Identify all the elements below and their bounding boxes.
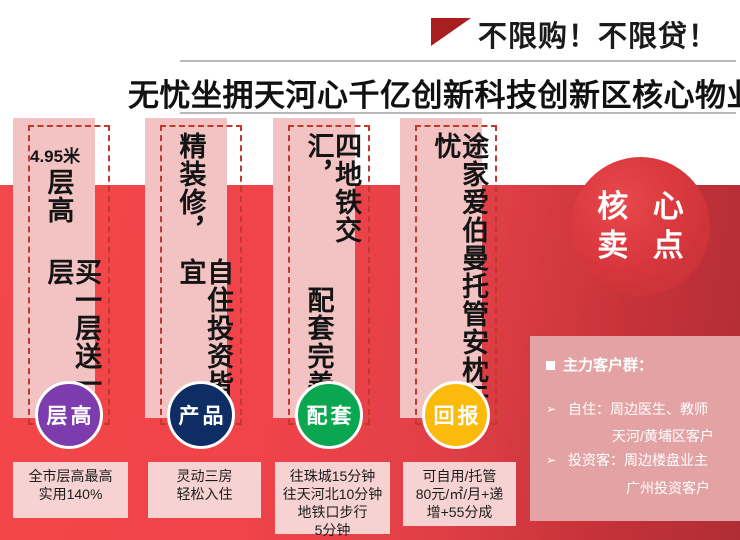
customer-row: 自住：周边医生、教师 <box>568 399 708 419</box>
badge-circle-3[interactable]: 配套 <box>295 381 363 449</box>
red-triangle-icon <box>431 18 471 46</box>
column-vertical-text-primary: 四地铁交汇， <box>304 132 359 274</box>
slide-root: 不限购！不限贷！ 无忧坐拥天河心千亿创新科技创新区核心物业 4.95米 层高 买… <box>0 0 740 540</box>
customer-row: 天河/黄埔区客户 <box>612 426 714 446</box>
customer-group-panel: 主力客户群： ➢ 自住：周边医生、教师 天河/黄埔区客户 ➢ 投资客：周边楼盘业… <box>530 336 740 521</box>
caption-line: 地铁口步行 <box>277 504 388 522</box>
square-bullet-icon <box>546 361 555 370</box>
customer-panel-title: 主力客户群： <box>563 354 653 375</box>
badge-circle-4[interactable]: 回报 <box>422 381 490 449</box>
caption-box-3: 往珠城15分钟 往天河北10分钟 地铁口步行 5分钟 <box>275 462 390 534</box>
page-title: 无忧坐拥天河心千亿创新科技创新区核心物业 <box>128 70 740 115</box>
arrow-bullet-icon: ➢ <box>546 402 556 416</box>
column-vertical-text-primary: 层高 <box>44 168 72 248</box>
divider-middle <box>180 112 736 114</box>
customer-row: 投资客：周边楼盘业主 <box>568 450 708 470</box>
caption-line: 往天河北10分钟 <box>277 486 388 504</box>
column-vertical-text-primary: 精装修， <box>176 132 204 248</box>
badge-circle-2[interactable]: 产品 <box>167 381 235 449</box>
caption-box-2: 灵动三房 轻松入住 <box>148 462 261 518</box>
caption-line: 80元/㎡/月+递 <box>405 486 514 504</box>
divider-top <box>180 60 736 62</box>
caption-line: 往珠城15分钟 <box>277 468 388 486</box>
caption-box-4: 可自用/托管 80元/㎡/月+递 增+55分成 <box>403 462 516 526</box>
column-vertical-text-primary: 途家爱伯曼托管安枕无忧 <box>431 132 486 420</box>
caption-line: 可自用/托管 <box>405 468 514 486</box>
caption-line: 实用140% <box>15 486 126 504</box>
caption-box-1: 全市层高最高 实用140% <box>13 462 128 518</box>
caption-line: 5分钟 <box>277 522 388 540</box>
badge-circle-1[interactable]: 层高 <box>35 381 103 449</box>
header-kicker: 不限购！不限贷！ <box>478 13 718 55</box>
core-line-2: 卖 点 <box>589 227 692 266</box>
column-headline: 4.95米 <box>30 142 80 167</box>
core-line-1: 核 心 <box>589 188 692 227</box>
customer-row: 广州投资客户 <box>626 478 710 498</box>
caption-line: 增+55分成 <box>405 504 514 522</box>
core-selling-point-circle: 核 心 卖 点 <box>571 157 710 296</box>
caption-line: 全市层高最高 <box>15 468 126 486</box>
arrow-bullet-icon: ➢ <box>546 453 556 467</box>
caption-line: 轻松入住 <box>150 486 259 504</box>
caption-line: 灵动三房 <box>150 468 259 486</box>
